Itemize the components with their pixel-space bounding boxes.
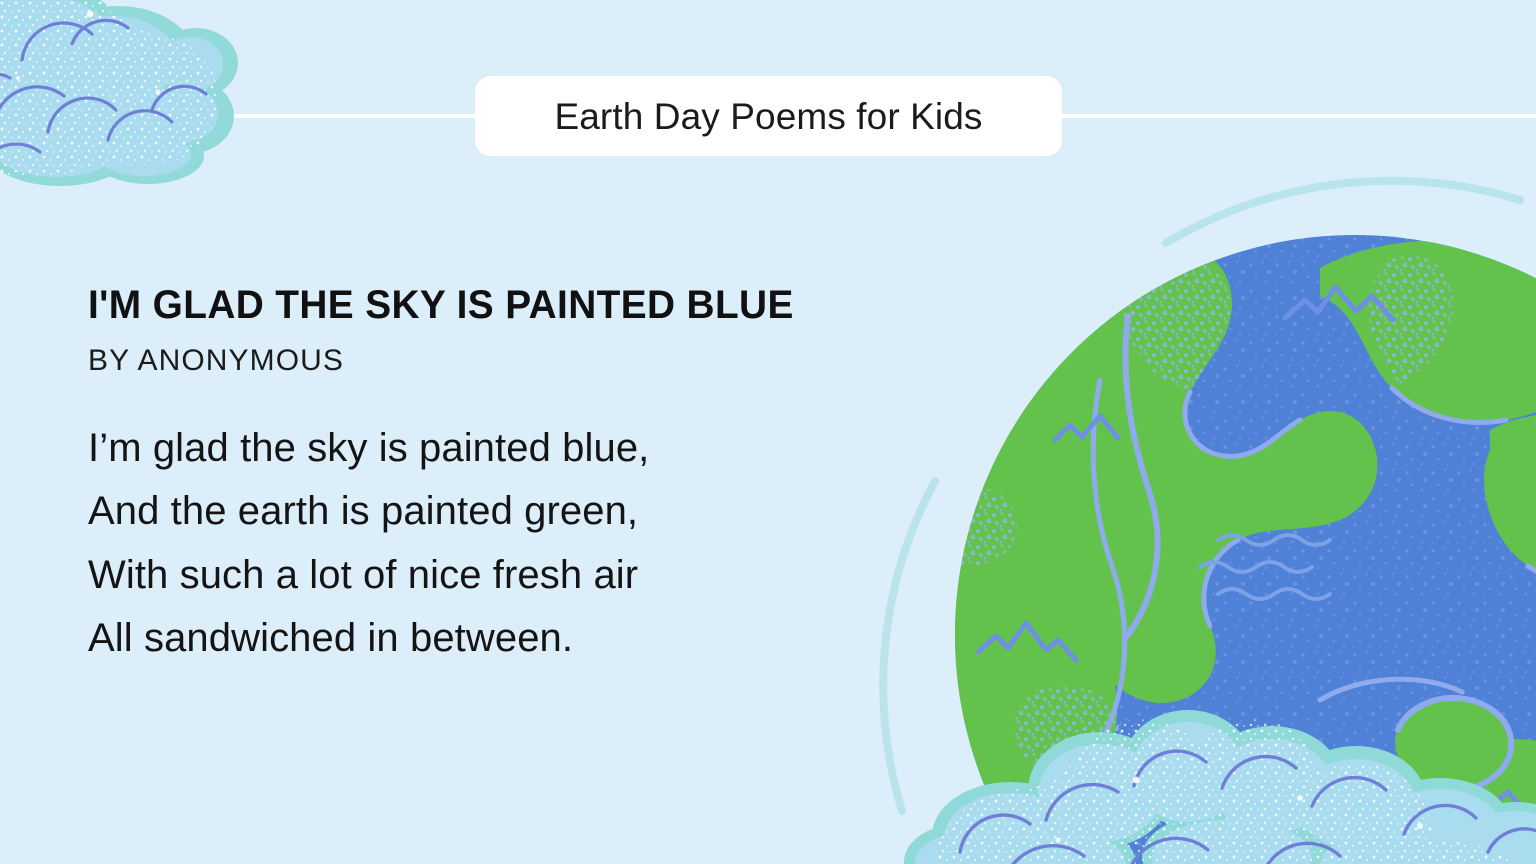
continent-southeast (1377, 739, 1536, 864)
ocean-waves (1200, 535, 1330, 599)
river (1124, 316, 1158, 640)
mountain-ranges (978, 287, 1528, 814)
mountain-southwest (978, 623, 1076, 660)
mountain-north (1285, 287, 1393, 320)
poem-block: I'M GLAD THE SKY IS PAINTED BLUE BY ANON… (88, 282, 968, 670)
page-title: Earth Day Poems for Kids (554, 98, 982, 135)
continent-west (955, 250, 1377, 703)
cloud-top-arcs (0, 20, 206, 172)
globe-ocean (955, 235, 1536, 864)
orbit-arc-top (1166, 181, 1520, 243)
coastline-lines (1093, 380, 1536, 864)
shallow-water-ne (1368, 256, 1452, 384)
header-title-pill: Earth Day Poems for Kids (475, 76, 1062, 156)
continent-south (955, 543, 1117, 864)
poem-line: I’m glad the sky is painted blue, (88, 417, 968, 480)
cloud-bottom-arcs (960, 751, 1536, 864)
cloud-bottom-shape (904, 700, 1536, 864)
poster-canvas: Earth Day Poems for Kids I'M GLAD THE SK… (0, 0, 1536, 864)
cloud-top-shape (0, 0, 250, 200)
poem-body: I’m glad the sky is painted blue, And th… (88, 417, 968, 670)
island-ring (1398, 698, 1511, 790)
continent-east (1484, 413, 1536, 587)
shallow-water-bottomleft (1015, 686, 1122, 777)
poem-line: With such a lot of nice fresh air (88, 544, 968, 607)
mountain-west (1055, 416, 1118, 440)
poem-line: All sandwiched in between. (88, 607, 968, 670)
island-oval (1395, 697, 1511, 787)
shallow-water-nw (1123, 255, 1231, 390)
poem-byline: BY ANONYMOUS (88, 343, 968, 379)
continent-northeast (1320, 240, 1536, 423)
poem-line: And the earth is painted green, (88, 480, 968, 543)
poem-title: I'M GLAD THE SKY IS PAINTED BLUE (88, 282, 942, 329)
mountain-southeast (1424, 778, 1528, 814)
